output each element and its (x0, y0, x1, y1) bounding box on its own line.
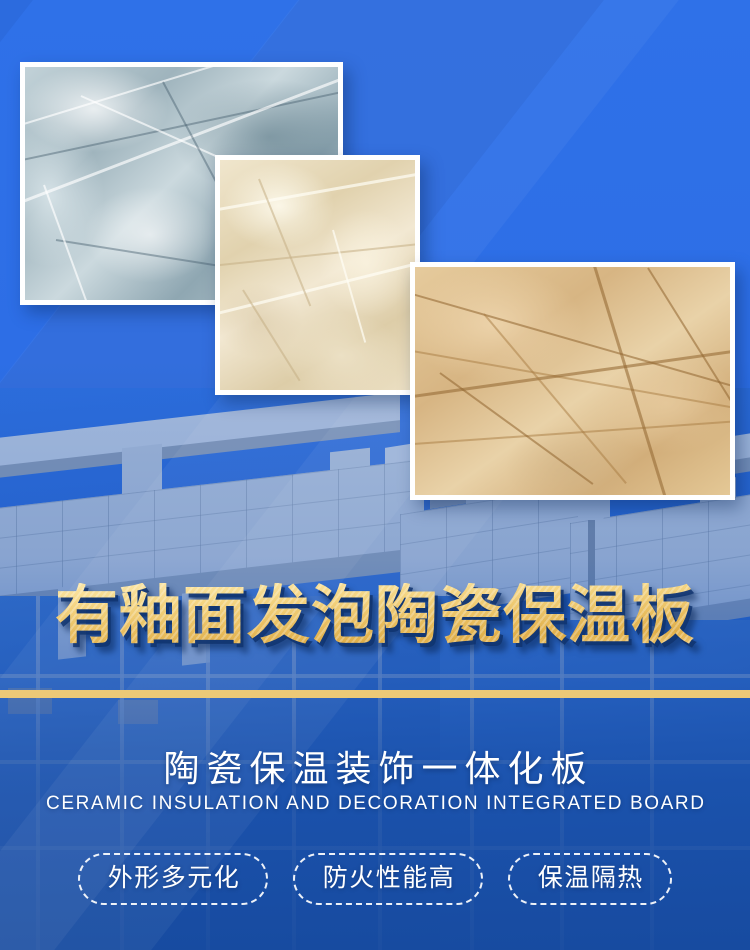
feature-badge-list: 外形多元化 防火性能高 保温隔热 (0, 853, 750, 905)
marble-vein (590, 262, 703, 500)
headline-container: 有釉面发泡陶瓷保温板 (0, 583, 750, 650)
marble-vein (215, 255, 420, 319)
feature-badge-thermal-insulation[interactable]: 保温隔热 (508, 853, 672, 905)
tile-texture (415, 267, 730, 495)
marble-vein (215, 239, 420, 267)
product-headline: 有釉面发泡陶瓷保温板 (55, 583, 695, 650)
feature-badge-shape-diversity[interactable]: 外形多元化 (78, 853, 268, 905)
gold-divider-rule (0, 690, 750, 698)
marble-vein (215, 167, 420, 214)
tile-texture (220, 160, 415, 390)
tile-sample-tan-marble[interactable] (410, 262, 735, 500)
marble-vein (332, 230, 366, 343)
marble-vein (20, 80, 343, 167)
product-banner: 有釉面发泡陶瓷保温板 陶瓷保温装饰一体化板 CERAMIC INSULATION… (0, 0, 750, 950)
marble-vein (410, 285, 735, 400)
tile-sample-cream-marble[interactable] (215, 155, 420, 395)
marble-vein (243, 289, 302, 381)
subtitle-chinese: 陶瓷保温装饰一体化板 (0, 740, 750, 792)
subtitle-english: CERAMIC INSULATION AND DECORATION INTEGR… (0, 793, 750, 815)
marble-vein (440, 372, 594, 485)
feature-badge-fire-resistance[interactable]: 防火性能高 (293, 853, 483, 905)
